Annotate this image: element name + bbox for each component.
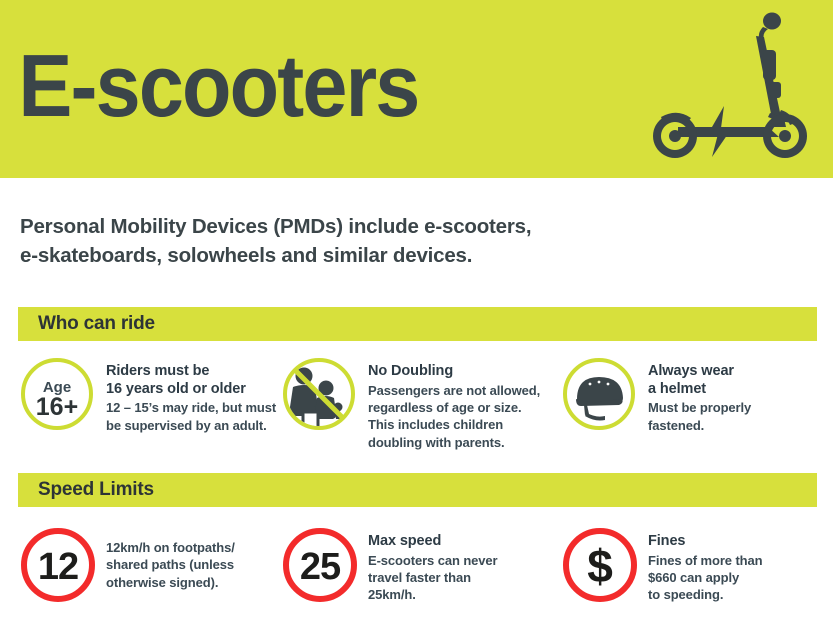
age-badge-large-label: 16+ xyxy=(36,393,78,421)
section-title: Who can ride xyxy=(18,313,155,335)
body-line: travel faster than xyxy=(368,569,498,586)
item-text: Fines Fines of more than $660 can apply … xyxy=(638,525,763,604)
body-line: $660 can apply xyxy=(648,569,763,586)
body-line: E-scooters can never xyxy=(368,552,498,569)
body-line: Passengers are not allowed, xyxy=(368,382,540,399)
page-title: E-scooters xyxy=(0,42,418,130)
section-header-speed-limits: Speed Limits xyxy=(18,473,817,507)
item-text: No Doubling Passengers are not allowed, … xyxy=(358,355,540,451)
body-line: Must be properly xyxy=(648,399,751,416)
item-body: Must be properly fastened. xyxy=(648,399,751,434)
subtitle: Personal Mobility Devices (PMDs) include… xyxy=(20,212,720,270)
item-heading: Fines xyxy=(648,533,763,551)
body-line: 25km/h. xyxy=(368,586,498,603)
item-text: 12km/h on footpaths/ shared paths (unles… xyxy=(96,525,235,591)
item-heading: Riders must be 16 years old or older xyxy=(106,363,276,398)
item-max-speed: 25 Max speed E-scooters can never travel… xyxy=(280,525,560,604)
heading-line: Riders must be xyxy=(106,363,276,381)
heading-line: Always wear xyxy=(648,363,751,381)
item-body: 12km/h on footpaths/ shared paths (unles… xyxy=(106,539,235,591)
dollar-fine-icon: $ xyxy=(560,525,638,603)
item-text: Always wear a helmet Must be properly fa… xyxy=(638,355,751,434)
item-age-requirement: Age 16+ Riders must be 16 years old or o… xyxy=(0,355,280,451)
section-items-speed-limits: 12 12km/h on footpaths/ shared paths (un… xyxy=(0,525,833,604)
section-header-who-can-ride: Who can ride xyxy=(18,307,817,341)
item-body: E-scooters can never travel faster than … xyxy=(368,552,498,604)
body-line: doubling with parents. xyxy=(368,434,540,451)
item-fines: $ Fines Fines of more than $660 can appl… xyxy=(560,525,833,604)
speed-limit-25-sign: 25 xyxy=(280,525,358,603)
heading-line: a helmet xyxy=(648,381,751,399)
item-text: Riders must be 16 years old or older 12 … xyxy=(96,355,276,434)
item-no-doubling: No Doubling Passengers are not allowed, … xyxy=(280,355,560,451)
item-body: Fines of more than $660 can apply to spe… xyxy=(648,552,763,604)
item-text: Max speed E-scooters can never travel fa… xyxy=(358,525,498,604)
speed-limit-12-sign: 12 xyxy=(18,525,96,603)
subtitle-line-2: e-skateboards, solowheels and similar de… xyxy=(20,241,720,270)
speed-value: 25 xyxy=(300,546,341,588)
body-line: fastened. xyxy=(648,417,751,434)
body-line: This includes children xyxy=(368,416,540,433)
section-title: Speed Limits xyxy=(18,479,154,501)
infographic-page: E-scooters xyxy=(0,0,833,639)
item-footpath-speed: 12 12km/h on footpaths/ shared paths (un… xyxy=(0,525,280,604)
item-body: Passengers are not allowed, regardless o… xyxy=(368,382,540,451)
item-helmet: Always wear a helmet Must be properly fa… xyxy=(560,355,833,451)
body-line: regardless of age or size. xyxy=(368,399,540,416)
body-line: shared paths (unless xyxy=(106,556,235,573)
speed-value: 12 xyxy=(38,546,78,588)
no-doubling-icon xyxy=(280,355,358,433)
item-body: 12 – 15’s may ride, but must be supervis… xyxy=(106,399,276,434)
subtitle-line-1: Personal Mobility Devices (PMDs) include… xyxy=(20,212,720,241)
body-line: Fines of more than xyxy=(648,552,763,569)
heading-line: No Doubling xyxy=(368,363,540,381)
item-heading: Always wear a helmet xyxy=(648,363,751,398)
body-line: be supervised by an adult. xyxy=(106,417,276,434)
item-heading: No Doubling xyxy=(368,363,540,381)
section-items-who-can-ride: Age 16+ Riders must be 16 years old or o… xyxy=(0,355,833,451)
heading-line: Max speed xyxy=(368,533,498,551)
heading-line: 16 years old or older xyxy=(106,381,276,399)
body-line: 12 – 15’s may ride, but must xyxy=(106,399,276,416)
body-line: 12km/h on footpaths/ xyxy=(106,539,235,556)
e-scooter-icon xyxy=(650,10,833,165)
dollar-sign: $ xyxy=(587,540,613,592)
header-banner: E-scooters xyxy=(0,0,833,178)
body-line: to speeding. xyxy=(648,586,763,603)
body-line: otherwise signed). xyxy=(106,574,235,591)
heading-line: Fines xyxy=(648,533,763,551)
age-16-plus-badge: Age 16+ xyxy=(18,355,96,433)
item-heading: Max speed xyxy=(368,533,498,551)
helmet-icon xyxy=(560,355,638,433)
